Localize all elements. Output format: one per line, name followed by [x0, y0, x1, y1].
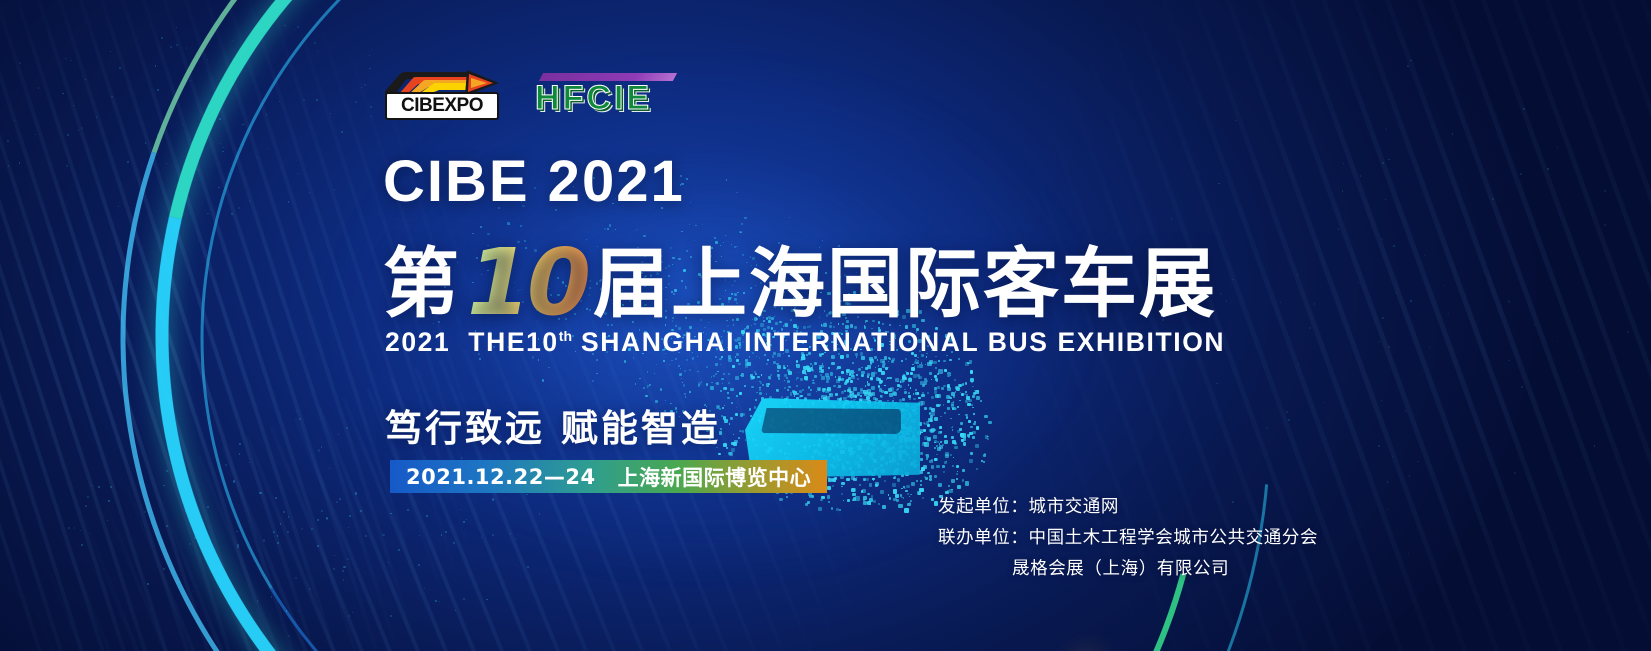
- banner-content: CIBEXPO H F C I E CIBE 2021 第 10 届上海国际客车…: [0, 0, 1651, 651]
- hfcie-letter-h: H: [535, 81, 560, 115]
- organizer-line-2: 联办单位：中国土木工程学会城市公共交通分会: [938, 523, 1318, 554]
- hfcie-letter-e: E: [626, 81, 649, 115]
- cibexpo-wordmark: CIBEXPO: [385, 92, 499, 120]
- event-date: 2021.12.22—24: [406, 465, 596, 489]
- subtitle-year: 2021: [385, 327, 450, 357]
- title-chinese: 第 10 届上海国际客车展: [383, 222, 1217, 332]
- hfcie-logo[interactable]: H F C I E: [535, 73, 675, 119]
- hfcie-letters: H F C I E: [535, 81, 649, 115]
- hfcie-letter-f: F: [563, 81, 584, 115]
- logo-row: CIBEXPO H F C I E: [383, 70, 675, 122]
- hfcie-letter-c: C: [586, 81, 611, 115]
- organizer-line-3: 晟格会展（上海）有限公司: [938, 554, 1318, 585]
- organizer-line-1: 发起单位：城市交通网: [938, 492, 1318, 523]
- edition-number: 10: [461, 229, 593, 336]
- title-chinese-prefix: 第: [383, 222, 461, 332]
- subtitle-rest: SHANGHAI INTERNATIONAL BUS EXHIBITION: [581, 327, 1225, 357]
- title-english: CIBE 2021: [383, 148, 685, 215]
- organizer-block: 发起单位：城市交通网 联办单位：中国土木工程学会城市公共交通分会 晟格会展（上海…: [938, 492, 1318, 585]
- subtitle-english: 2021 THE10th SHANGHAI INTERNATIONAL BUS …: [385, 327, 1225, 358]
- title-chinese-suffix: 届上海国际客车展: [593, 222, 1217, 332]
- event-venue: 上海新国际博览中心: [618, 462, 812, 492]
- slogan-text: 笃行致远 赋能智造: [385, 398, 721, 452]
- subtitle-lead: THE10: [468, 327, 558, 357]
- hfcie-letter-i: I: [614, 81, 623, 115]
- cibexpo-logo[interactable]: CIBEXPO: [383, 70, 501, 122]
- exhibition-banner: CIBEXPO H F C I E CIBE 2021 第 10 届上海国际客车…: [0, 0, 1651, 651]
- subtitle-ordinal: th: [559, 328, 572, 344]
- date-venue-bar: 2021.12.22—24 上海新国际博览中心: [390, 460, 827, 493]
